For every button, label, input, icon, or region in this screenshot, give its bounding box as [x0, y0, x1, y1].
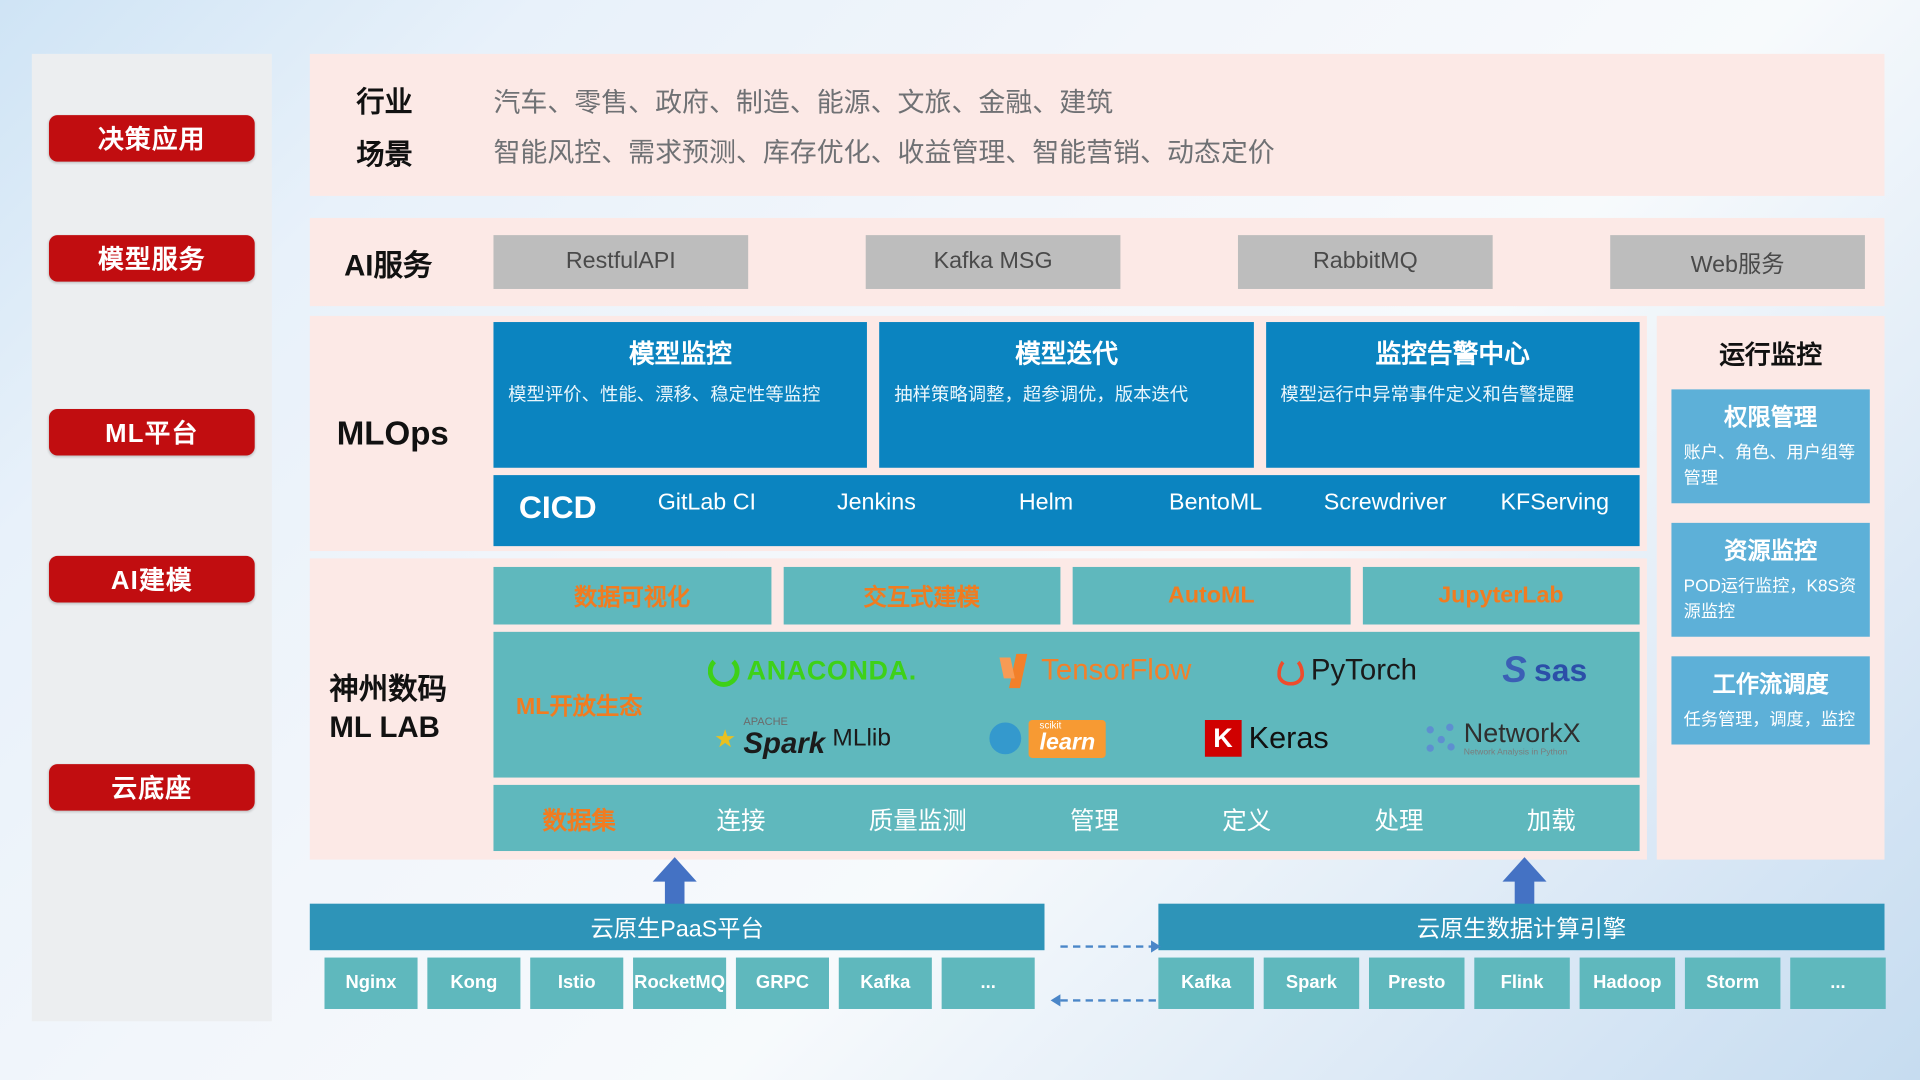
card-title: 监控告警中心 — [1280, 334, 1624, 371]
networkx-sublabel: Network Analysis in Python — [1464, 748, 1581, 757]
lab-tool-jupyterlab[interactable]: JupyterLab — [1362, 567, 1639, 625]
ai-service-title: AI服务 — [310, 241, 494, 284]
dataset-item-manage[interactable]: 管理 — [1070, 800, 1119, 836]
rail-label: ML平台 — [105, 414, 198, 451]
connector-dashed-left — [1060, 999, 1156, 1001]
cicd-item-bentoml[interactable]: BentoML — [1131, 488, 1301, 517]
ai-service-chip-kafka-msg[interactable]: Kafka MSG — [866, 235, 1121, 289]
rail-item-cloud-base[interactable]: 云底座 — [49, 764, 255, 811]
paas-chip-nginx[interactable]: Nginx — [324, 958, 417, 1009]
scenario-label: 场景 — [356, 130, 493, 172]
rail-label: AI建模 — [111, 561, 193, 598]
keras-logo: K Keras — [1205, 720, 1329, 757]
paas-chip-grpc[interactable]: GRPC — [736, 958, 829, 1009]
mlops-content: 模型监控 模型评价、性能、漂移、稳定性等监控 模型迭代 抽样策略调整，超参调优，… — [493, 321, 1646, 545]
anaconda-logo: ANACONDA. — [707, 655, 916, 687]
ai-service-chip-rabbitmq[interactable]: RabbitMQ — [1238, 235, 1493, 289]
card-title: 模型迭代 — [894, 334, 1238, 371]
scikit-main-label: learn — [1040, 730, 1096, 756]
industry-labels: 行业 场景 — [310, 67, 494, 183]
spark-star-icon: ★ — [714, 723, 736, 754]
spark-mllib-logo: ★ APACHE Spark MLlib — [714, 716, 891, 761]
mlops-card-model-monitoring[interactable]: 模型监控 模型评价、性能、漂移、稳定性等监控 — [493, 321, 867, 467]
networkx-label: NetworkX — [1464, 718, 1581, 749]
connector-arrow-right-icon — [1151, 940, 1161, 952]
layer-rail: 决策应用 模型服务 ML平台 AI建模 云底座 — [32, 54, 272, 1021]
lab-tool-data-visualization[interactable]: 数据可视化 — [493, 567, 770, 625]
pytorch-icon — [1277, 656, 1304, 685]
scikit-learn-logo: scikit learn — [989, 720, 1106, 758]
industry-label: 行业 — [356, 78, 493, 120]
paas-chip-more[interactable]: ... — [942, 958, 1035, 1009]
engine-chip-more[interactable]: ... — [1790, 958, 1886, 1009]
ml-open-ecosystem: ML开放生态 ANACONDA. TensorFlow — [493, 632, 1639, 778]
anaconda-label: ANACONDA. — [747, 655, 917, 687]
card-desc: 账户、角色、用户组等管理 — [1684, 440, 1858, 491]
dataset-item-define[interactable]: 定义 — [1222, 800, 1271, 836]
logo-grid: ANACONDA. TensorFlow PyTorch S sas — [665, 632, 1640, 778]
rail-label: 云底座 — [111, 769, 192, 806]
card-title: 权限管理 — [1684, 399, 1858, 432]
cloud-paas-title: 云原生PaaS平台 — [310, 904, 1045, 951]
dataset-item-row: 连接 质量监测 管理 定义 处理 加载 — [665, 800, 1640, 836]
tensorflow-icon — [1002, 654, 1034, 688]
industry-value: 汽车、零售、政府、制造、能源、文旅、金融、建筑 — [493, 80, 1274, 119]
dataset-item-load[interactable]: 加载 — [1527, 800, 1576, 836]
ai-service-chip-web[interactable]: Web服务 — [1610, 235, 1865, 289]
pytorch-logo: PyTorch — [1277, 654, 1417, 688]
industry-values: 汽车、零售、政府、制造、能源、文旅、金融、建筑 智能风控、需求预测、库存优化、收… — [493, 69, 1274, 180]
cicd-item-jenkins[interactable]: Jenkins — [792, 488, 962, 517]
connector-dashed-right — [1060, 945, 1156, 947]
engine-chip-storm[interactable]: Storm — [1685, 958, 1781, 1009]
ml-lab-content: 数据可视化 交互式建模 AutoML JupyterLab ML开放生态 ANA… — [493, 567, 1646, 851]
scikit-blob-icon — [989, 723, 1021, 755]
dataset-item-process[interactable]: 处理 — [1374, 800, 1423, 836]
tensorflow-logo: TensorFlow — [1002, 654, 1191, 688]
rail-item-model-service[interactable]: 模型服务 — [49, 235, 255, 282]
sas-label: sas — [1534, 652, 1587, 690]
paas-chip-istio[interactable]: Istio — [530, 958, 623, 1009]
logo-row-2: ★ APACHE Spark MLlib scikit learn — [665, 707, 1630, 770]
engine-chip-hadoop[interactable]: Hadoop — [1580, 958, 1676, 1009]
card-desc: POD运行监控，K8S资源监控 — [1684, 573, 1858, 624]
rail-label: 决策应用 — [98, 120, 206, 157]
monitor-card-workflow[interactable]: 工作流调度 任务管理，调度，监控 — [1671, 656, 1869, 744]
rail-item-ml-platform[interactable]: ML平台 — [49, 409, 255, 456]
sas-logo: S sas — [1502, 650, 1587, 692]
card-desc: 任务管理，调度，监控 — [1684, 707, 1858, 733]
keras-label: Keras — [1249, 721, 1329, 757]
tensorflow-label: TensorFlow — [1041, 654, 1191, 688]
keras-icon: K — [1205, 720, 1242, 757]
rail-item-ai-modeling[interactable]: AI建模 — [49, 556, 255, 603]
cicd-item-kfserving[interactable]: KFServing — [1470, 488, 1640, 517]
logo-row-1: ANACONDA. TensorFlow PyTorch S sas — [665, 639, 1630, 702]
cicd-label: CICD — [493, 488, 622, 526]
ai-service-band: AI服务 RestfulAPI Kafka MSG RabbitMQ Web服务 — [310, 218, 1885, 306]
paas-chip-rocketmq[interactable]: RocketMQ — [633, 958, 726, 1009]
engine-chip-kafka[interactable]: Kafka — [1158, 958, 1254, 1009]
cicd-item-gitlab-ci[interactable]: GitLab CI — [622, 488, 792, 517]
cicd-bar: CICD GitLab CI Jenkins Helm BentoML Scre… — [493, 474, 1639, 545]
monitor-card-permission[interactable]: 权限管理 账户、角色、用户组等管理 — [1671, 389, 1869, 503]
industry-scenario-band: 行业 场景 汽车、零售、政府、制造、能源、文旅、金融、建筑 智能风控、需求预测、… — [310, 54, 1885, 196]
ai-service-chip-row: RestfulAPI Kafka MSG RabbitMQ Web服务 — [493, 235, 1884, 289]
rail-item-decision-app[interactable]: 决策应用 — [49, 115, 255, 162]
lab-tool-automl[interactable]: AutoML — [1073, 567, 1350, 625]
spark-label: APACHE Spark — [743, 716, 825, 761]
anaconda-icon — [707, 655, 739, 687]
sas-icon: S — [1502, 650, 1527, 692]
ml-lab-band: 神州数码 ML LAB 数据可视化 交互式建模 AutoML JupyterLa… — [310, 558, 1647, 859]
mlops-card-model-iteration[interactable]: 模型迭代 抽样策略调整，超参调优，版本迭代 — [880, 321, 1254, 467]
dataset-label: 数据集 — [493, 800, 664, 836]
card-desc: 抽样策略调整，超参调优，版本迭代 — [894, 381, 1238, 408]
card-title: 资源监控 — [1684, 533, 1858, 566]
scikit-learn-label: scikit learn — [1029, 720, 1107, 758]
rail-label: 模型服务 — [98, 240, 206, 277]
dataset-item-connect[interactable]: 连接 — [717, 800, 766, 836]
ml-lab-title: 神州数码 ML LAB — [310, 671, 494, 747]
ml-lab-title-line1: 神州数码 — [329, 671, 493, 709]
spark-apache-label: APACHE — [743, 716, 825, 727]
mlops-band: MLOps 模型监控 模型评价、性能、漂移、稳定性等监控 模型迭代 抽样策略调整… — [310, 316, 1647, 551]
networkx-icon — [1427, 724, 1456, 753]
mllib-label: MLlib — [832, 725, 891, 753]
ml-open-ecosystem-label: ML开放生态 — [493, 688, 664, 721]
card-title: 模型监控 — [508, 334, 852, 371]
networkx-logo: NetworkX Network Analysis in Python — [1427, 720, 1581, 757]
engine-chip-spark[interactable]: Spark — [1264, 958, 1360, 1009]
scenario-value: 智能风控、需求预测、库存优化、收益管理、智能营销、动态定价 — [493, 130, 1274, 169]
connector-arrow-left-icon — [1051, 994, 1061, 1006]
ai-service-chip-restfulapi[interactable]: RestfulAPI — [493, 235, 748, 289]
monitor-card-resource[interactable]: 资源监控 POD运行监控，K8S资源监控 — [1671, 523, 1869, 637]
dataset-item-quality-monitor[interactable]: 质量监测 — [869, 800, 967, 836]
card-title: 工作流调度 — [1684, 666, 1858, 699]
ml-lab-title-line2: ML LAB — [329, 709, 493, 747]
mlops-card-alert-center[interactable]: 监控告警中心 模型运行中异常事件定义和告警提醒 — [1266, 321, 1640, 467]
mlops-card-row: 模型监控 模型评价、性能、漂移、稳定性等监控 模型迭代 抽样策略调整，超参调优，… — [493, 321, 1639, 467]
paas-chip-kong[interactable]: Kong — [427, 958, 520, 1009]
paas-chip-kafka[interactable]: Kafka — [839, 958, 932, 1009]
ml-lab-tool-row: 数据可视化 交互式建模 AutoML JupyterLab — [493, 567, 1639, 625]
card-desc: 模型运行中异常事件定义和告警提醒 — [1280, 381, 1624, 408]
mlops-title: MLOps — [310, 414, 494, 452]
engine-chip-presto[interactable]: Presto — [1369, 958, 1465, 1009]
cloud-data-engine-chip-row: Kafka Spark Presto Flink Hadoop Storm ..… — [1158, 958, 1885, 1009]
engine-chip-flink[interactable]: Flink — [1474, 958, 1570, 1009]
pytorch-label: PyTorch — [1311, 654, 1417, 688]
lab-tool-interactive-modeling[interactable]: 交互式建模 — [783, 567, 1060, 625]
diagram-canvas: 决策应用 模型服务 ML平台 AI建模 云底座 行业 场景 汽车、零售、政府、制… — [0, 0, 1920, 1080]
networkx-label-wrap: NetworkX Network Analysis in Python — [1464, 720, 1581, 757]
cicd-item-helm[interactable]: Helm — [961, 488, 1131, 517]
cloud-paas-chip-row: Nginx Kong Istio RocketMQ GRPC Kafka ... — [324, 958, 1034, 1009]
runtime-monitor-panel: 运行监控 权限管理 账户、角色、用户组等管理 资源监控 POD运行监控，K8S资… — [1657, 316, 1885, 860]
card-desc: 模型评价、性能、漂移、稳定性等监控 — [508, 381, 852, 408]
cicd-item-screwdriver[interactable]: Screwdriver — [1300, 488, 1470, 517]
dataset-row: 数据集 连接 质量监测 管理 定义 处理 加载 — [493, 785, 1639, 851]
cloud-data-engine-title: 云原生数据计算引擎 — [1158, 904, 1884, 951]
runtime-monitor-title: 运行监控 — [1671, 336, 1869, 373]
spark-word: Spark — [743, 727, 825, 760]
